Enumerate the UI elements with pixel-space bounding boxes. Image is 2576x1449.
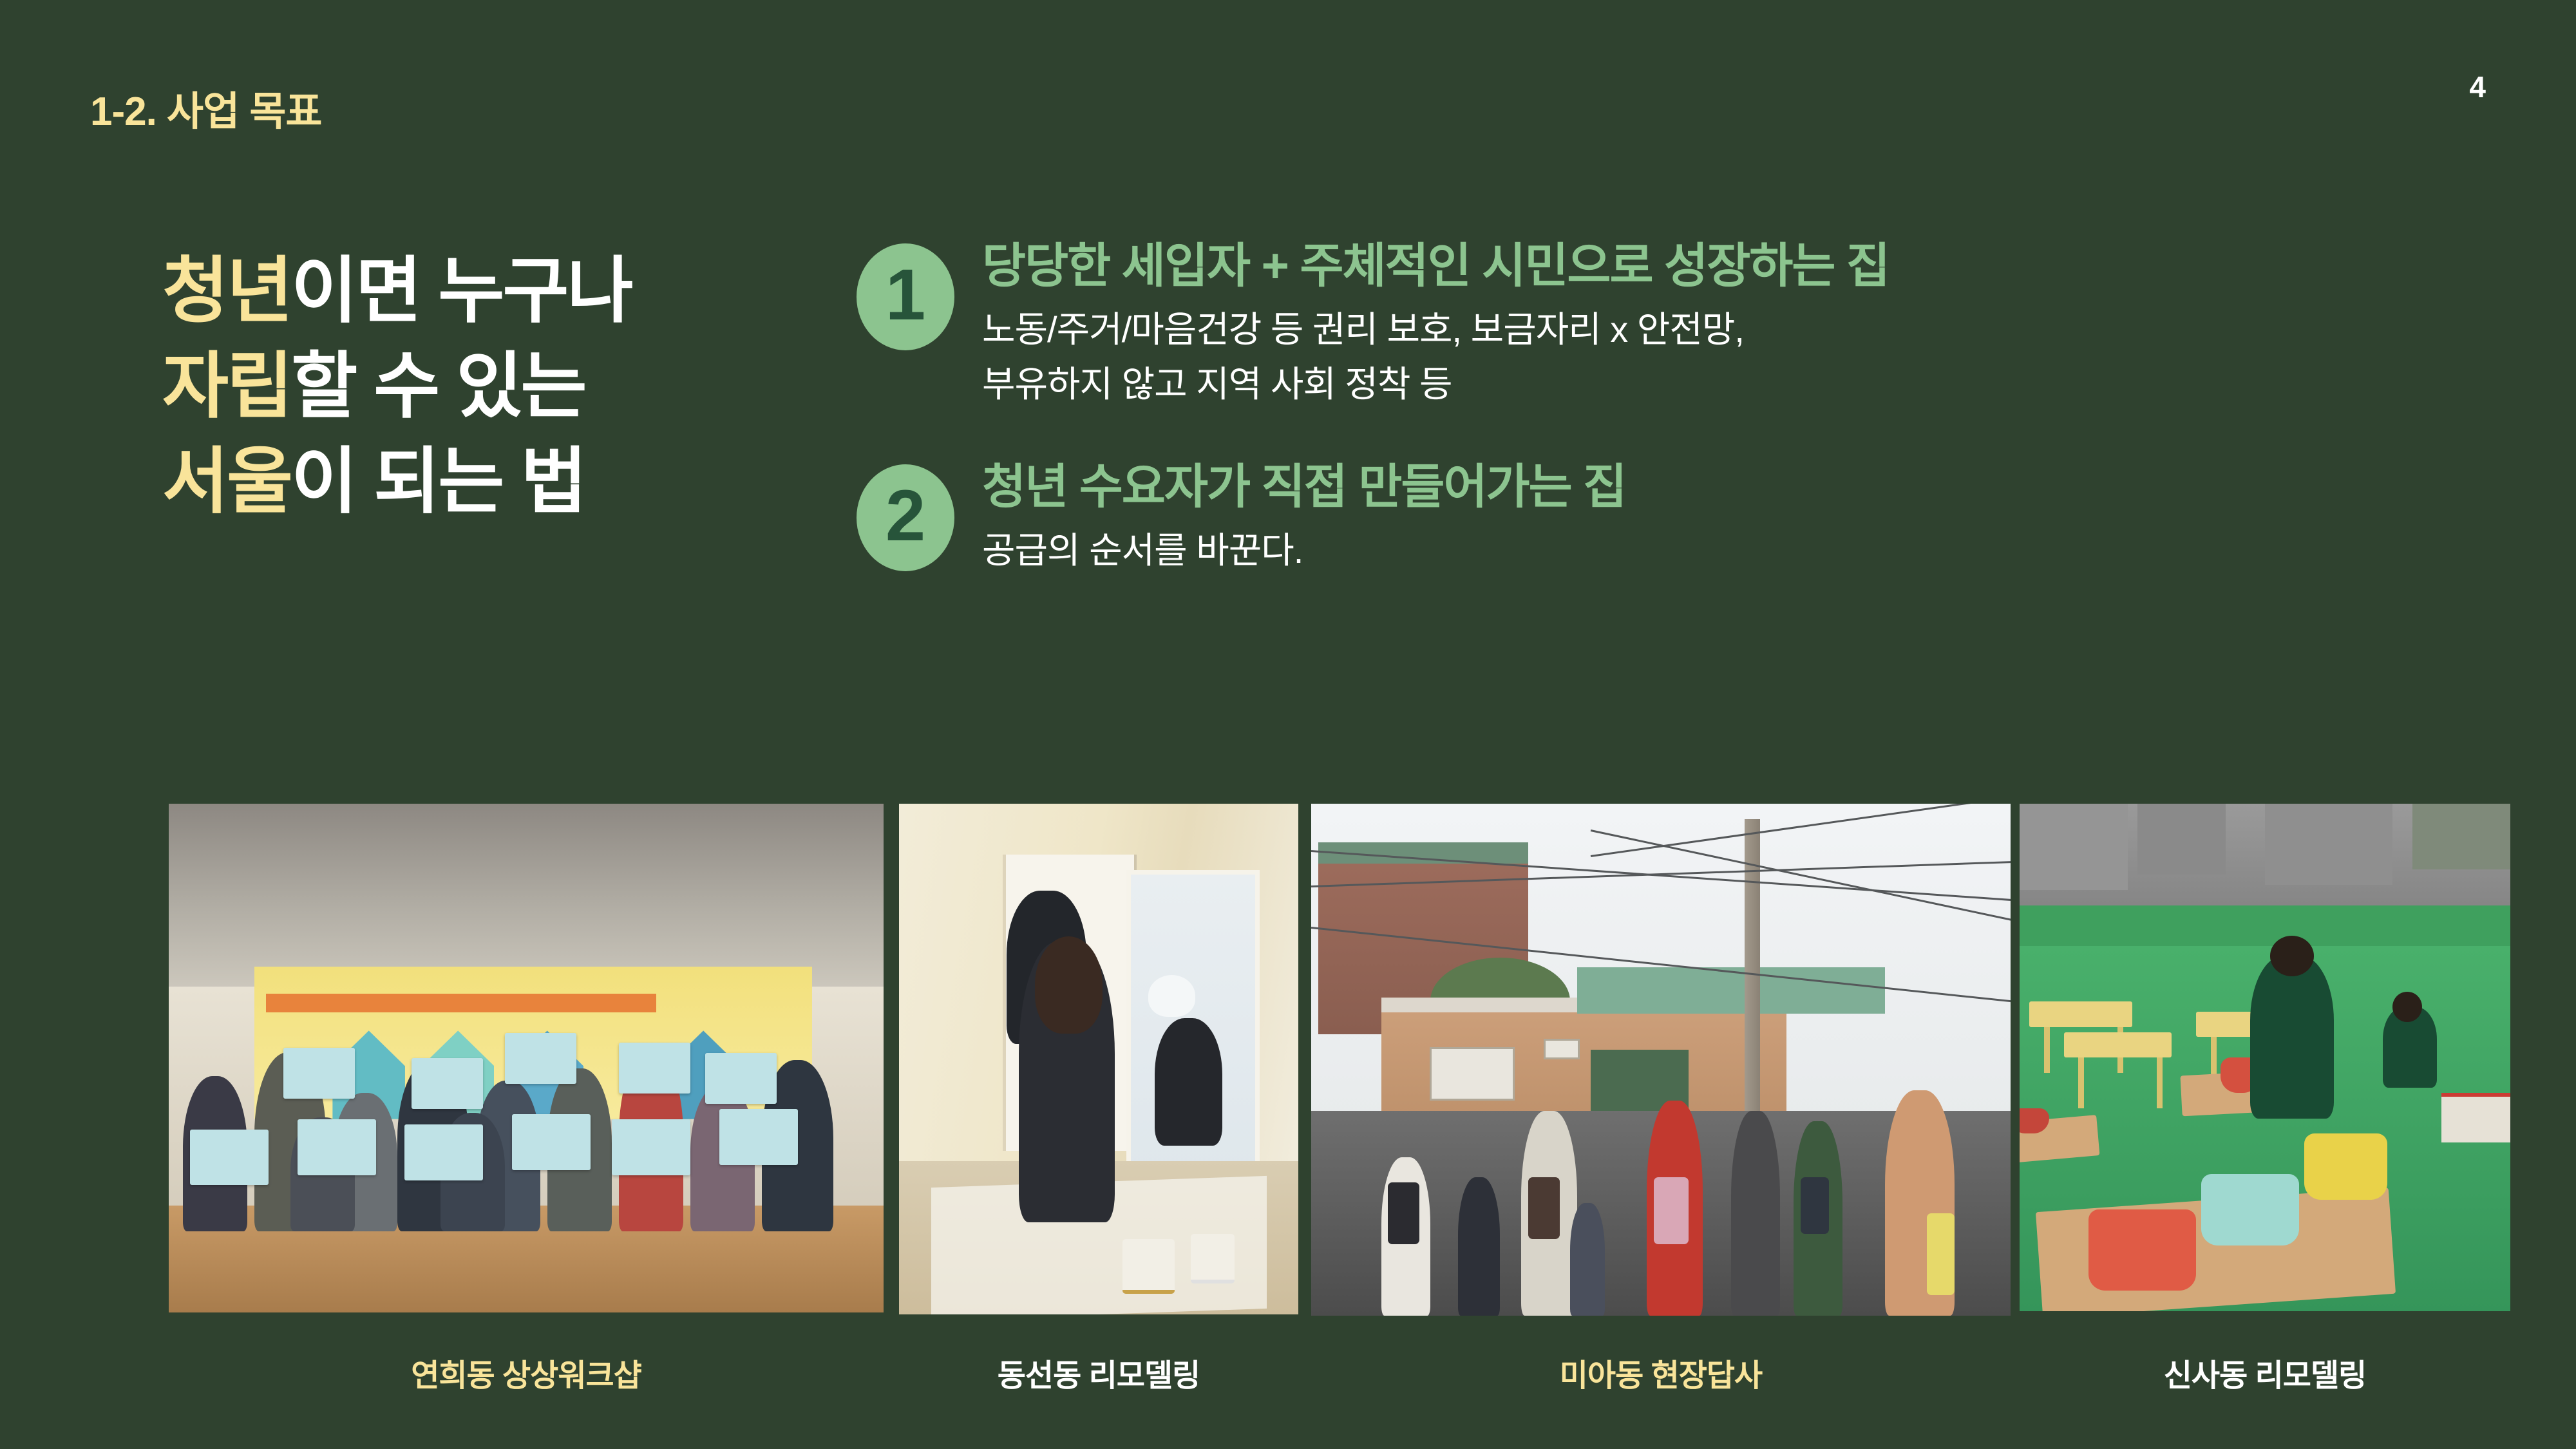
photo-caption-1: 연희동 상상워크샵 <box>169 1350 884 1395</box>
point-body-1: 당당한 세입자 + 주체적인 시민으로 성장하는 집 노동/주거/마음건강 등 … <box>857 240 2505 412</box>
photo-caption-4: 신사동 리모델링 <box>2020 1350 2510 1395</box>
headline-line-2: 자립할 수 있는 <box>162 339 819 434</box>
point-badge-number-2: 2 <box>885 480 925 552</box>
headline-block: 청년이면 누구나 자립할 수 있는 서울이 되는 법 <box>162 243 819 529</box>
page-number: 4 <box>2469 70 2486 104</box>
photo-cell-1: 연희동 상상워크샵 <box>169 804 884 1312</box>
photo-image-field-survey <box>1311 804 2011 1316</box>
photo-caption-2: 동선동 리모델링 <box>899 1350 1298 1395</box>
headline-line-1: 청년이면 누구나 <box>162 243 819 339</box>
point-body-2: 청년 수요자가 직접 만들어가는 집 공급의 순서를 바꾼다. <box>857 460 2505 578</box>
page-title: 1-2. 사업 목표 <box>90 79 321 137</box>
photo-cell-3: 미아동 현장답사 <box>1311 804 2011 1316</box>
photo-caption-3: 미아동 현장답사 <box>1311 1350 2011 1395</box>
point-heading-1: 당당한 세입자 + 주체적인 시민으로 성장하는 집 <box>982 240 2505 293</box>
photo-image-workshop <box>169 804 884 1312</box>
photo-image-rooftop <box>2020 804 2510 1311</box>
photo-cell-4: 신사동 리모델링 <box>2020 804 2510 1311</box>
point-sub-2: 공급의 순서를 바꾼다. <box>982 523 2505 578</box>
point-heading-2: 청년 수요자가 직접 만들어가는 집 <box>982 460 2505 514</box>
point-sub-line-1b: 부유하지 않고 지역 사회 정착 등 <box>982 357 2505 412</box>
headline-accent-1: 청년 <box>162 251 291 331</box>
point-badge-1: 1 <box>857 243 954 350</box>
point-sub-line-1a: 노동/주거/마음건강 등 권리 보호, 보금자리 x 안전망, <box>982 302 2505 357</box>
presentation-slide: 1-2. 사업 목표 4 청년이면 누구나 자립할 수 있는 서울이 되는 법 … <box>0 0 2576 1449</box>
point-item-2: 2 청년 수요자가 직접 만들어가는 집 공급의 순서를 바꾼다. <box>857 460 2505 578</box>
photo-image-remodeling <box>899 804 1298 1314</box>
headline-accent-2: 자립 <box>162 346 291 426</box>
point-item-1: 1 당당한 세입자 + 주체적인 시민으로 성장하는 집 노동/주거/마음건강 … <box>857 240 2505 412</box>
headline-rest-2: 할 수 있는 <box>291 346 585 426</box>
point-badge-2: 2 <box>857 464 954 571</box>
headline-accent-3: 서울 <box>162 441 291 522</box>
photo-strip: 연희동 상상워크샵 동선동 리모델링 <box>0 804 2576 1448</box>
headline-line-3: 서울이 되는 법 <box>162 434 819 529</box>
headline-rest-1: 이면 누구나 <box>291 251 631 331</box>
headline-rest-3: 이 되는 법 <box>291 441 585 522</box>
point-sub-1: 노동/주거/마음건강 등 권리 보호, 보금자리 x 안전망, 부유하지 않고 … <box>982 302 2505 412</box>
point-sub-line-2a: 공급의 순서를 바꾼다. <box>982 523 2505 578</box>
point-badge-number-1: 1 <box>885 259 925 331</box>
points-list: 1 당당한 세입자 + 주체적인 시민으로 성장하는 집 노동/주거/마음건강 … <box>857 240 2505 616</box>
photo-cell-2: 동선동 리모델링 <box>899 804 1298 1314</box>
